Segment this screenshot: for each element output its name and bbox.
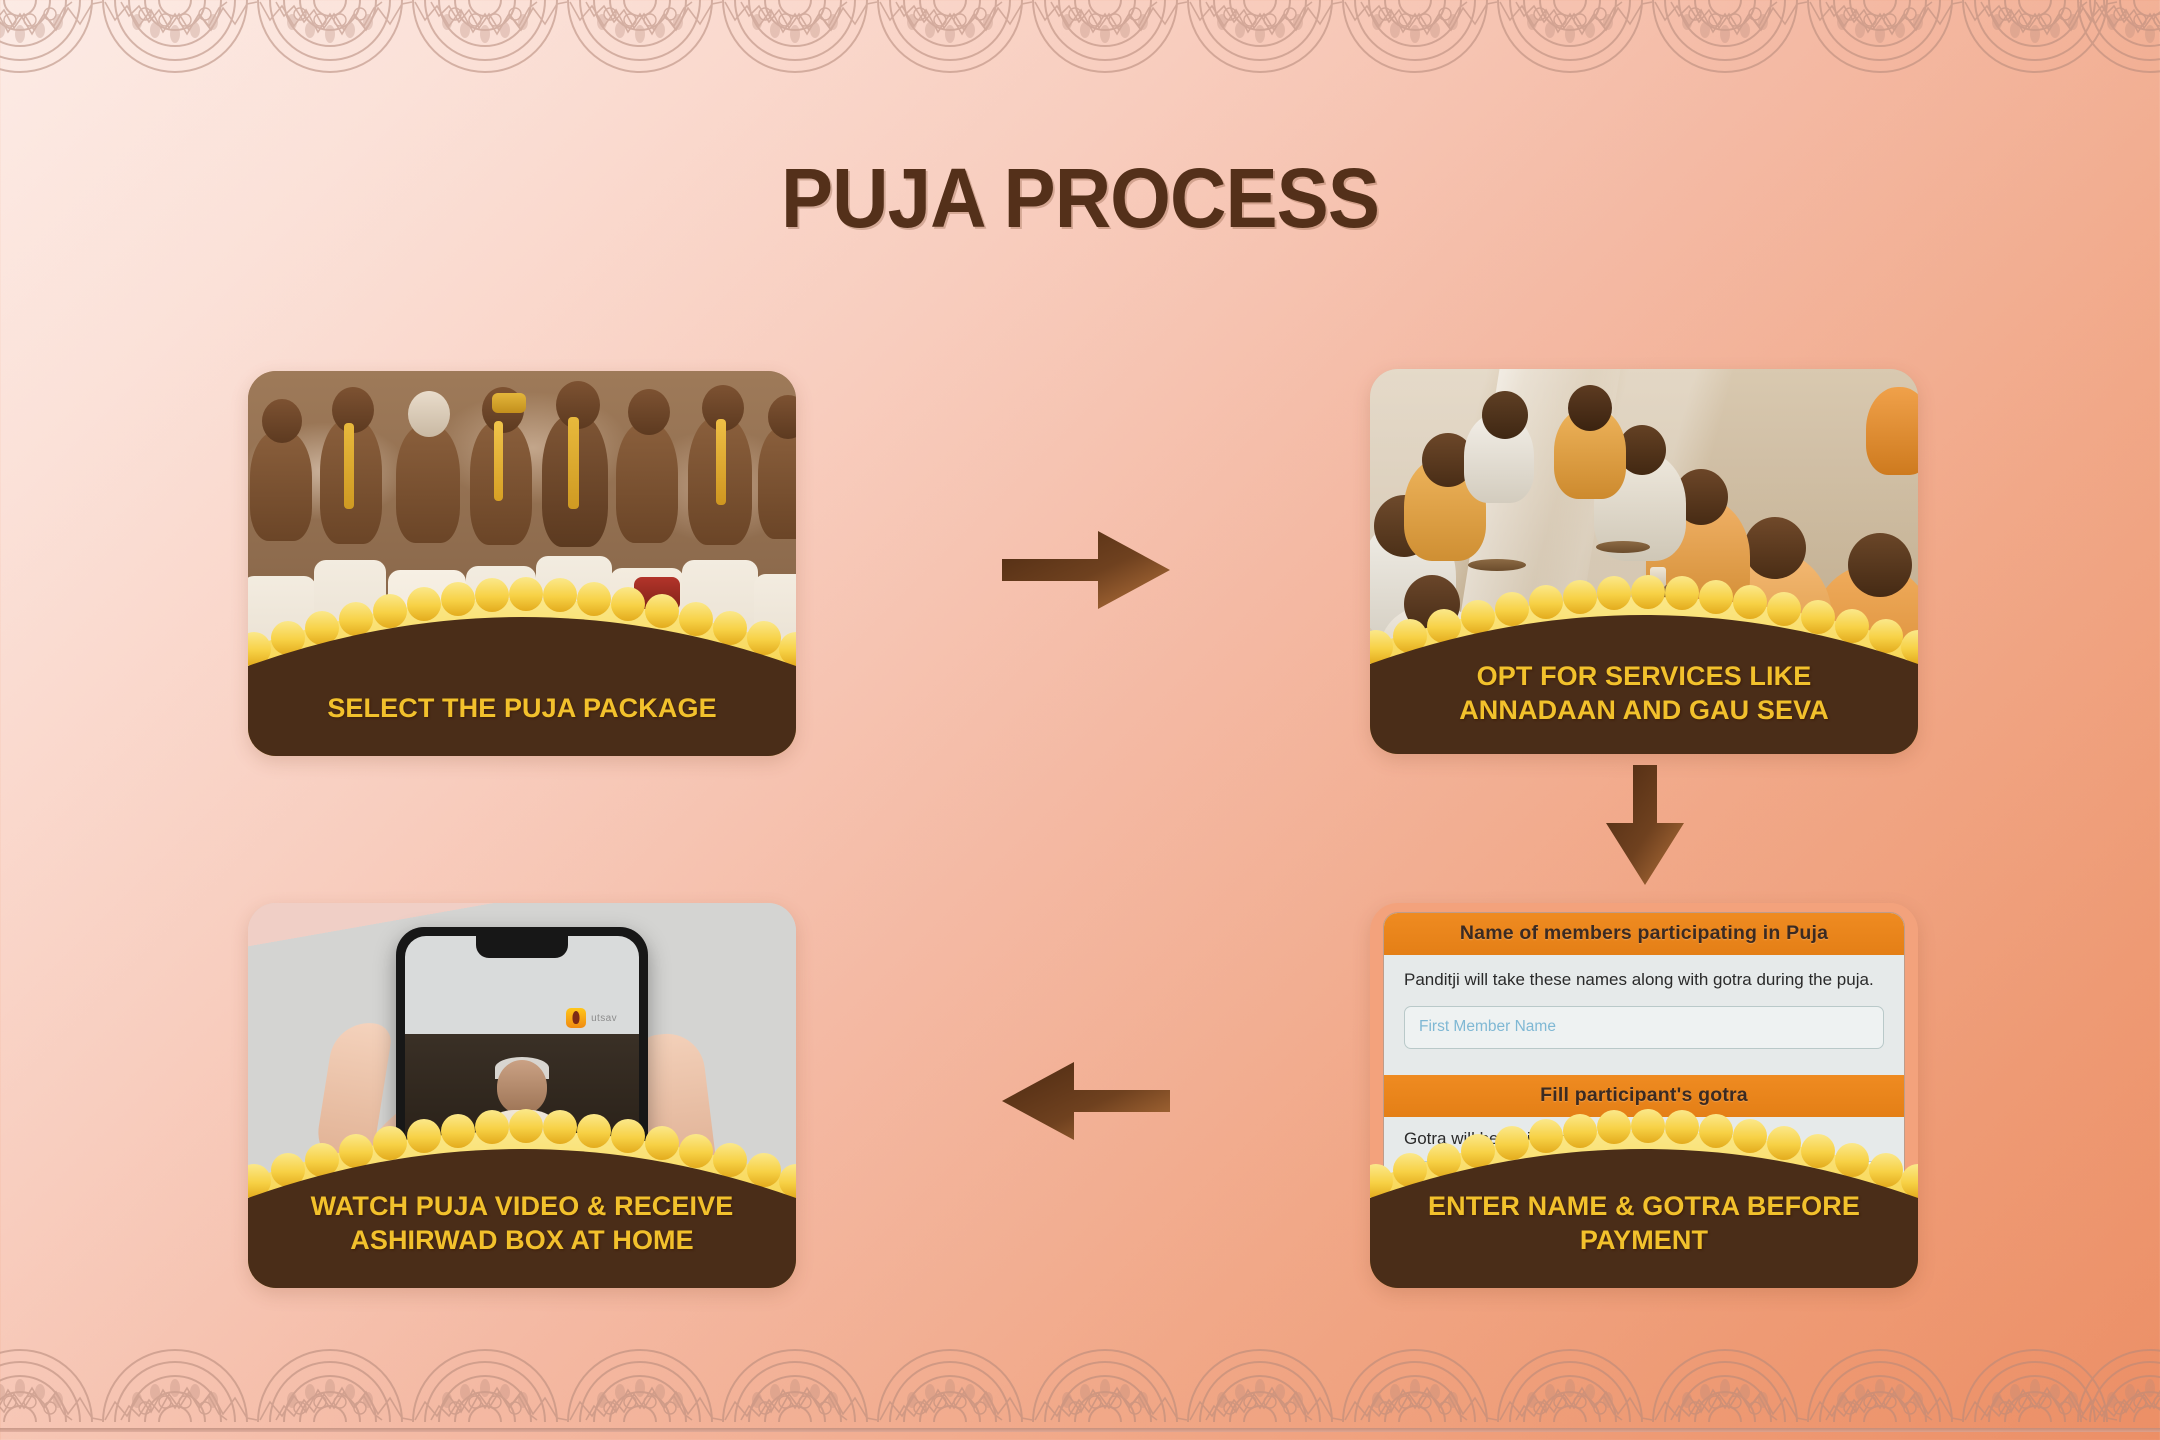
step-card-select-package[interactable]: SELECT THE PUJA PACKAGE [248,371,796,756]
form-header-members: Name of members participating in Puja [1384,913,1904,955]
app-logo-icon [566,1008,586,1028]
first-member-name-input[interactable]: First Member Name [1404,1006,1884,1049]
caption-band-1: SELECT THE PUJA PACKAGE [248,556,796,756]
caption-label-4: WATCH PUJA VIDEO & RECEIVE ASHIRWAD BOX … [248,1189,796,1258]
step-card-watch-video[interactable]: utsav 0:22 / 1:00 [248,903,796,1288]
app-brand-label: utsav [591,1013,617,1024]
step-card-enter-name-gotra[interactable]: Name of members participating in Puja Pa… [1370,903,1918,1288]
app-brand: utsav [566,1008,617,1028]
bottom-rule [0,1428,2160,1432]
caption-band-2: OPT FOR SERVICES LIKE ANNADAAN AND GAU S… [1370,554,1918,754]
first-member-name-placeholder: First Member Name [1419,1018,1556,1036]
caption-band-3: ENTER NAME & GOTRA BEFORE PAYMENT [1370,1088,1918,1288]
top-ornamental-border [0,0,2160,86]
form-help-members: Panditji will take these names along wit… [1404,969,1884,992]
step-card-annadaan-gauseva[interactable]: OPT FOR SERVICES LIKE ANNADAAN AND GAU S… [1370,369,1918,754]
bottom-ornamental-border [0,1336,2160,1440]
caption-band-4: WATCH PUJA VIDEO & RECEIVE ASHIRWAD BOX … [248,1088,796,1288]
phone-notch [476,936,568,958]
caption-label-2: OPT FOR SERVICES LIKE ANNADAAN AND GAU S… [1370,659,1918,728]
page-title: PUJA PROCESS [76,150,2085,247]
arrow-step3-to-step4-icon [1002,1062,1170,1140]
arrow-step2-to-step3-icon [1606,765,1684,885]
arrow-step1-to-step2-icon [1002,531,1170,609]
caption-label-3: ENTER NAME & GOTRA BEFORE PAYMENT [1370,1189,1918,1258]
caption-label-1: SELECT THE PUJA PACKAGE [248,691,796,726]
